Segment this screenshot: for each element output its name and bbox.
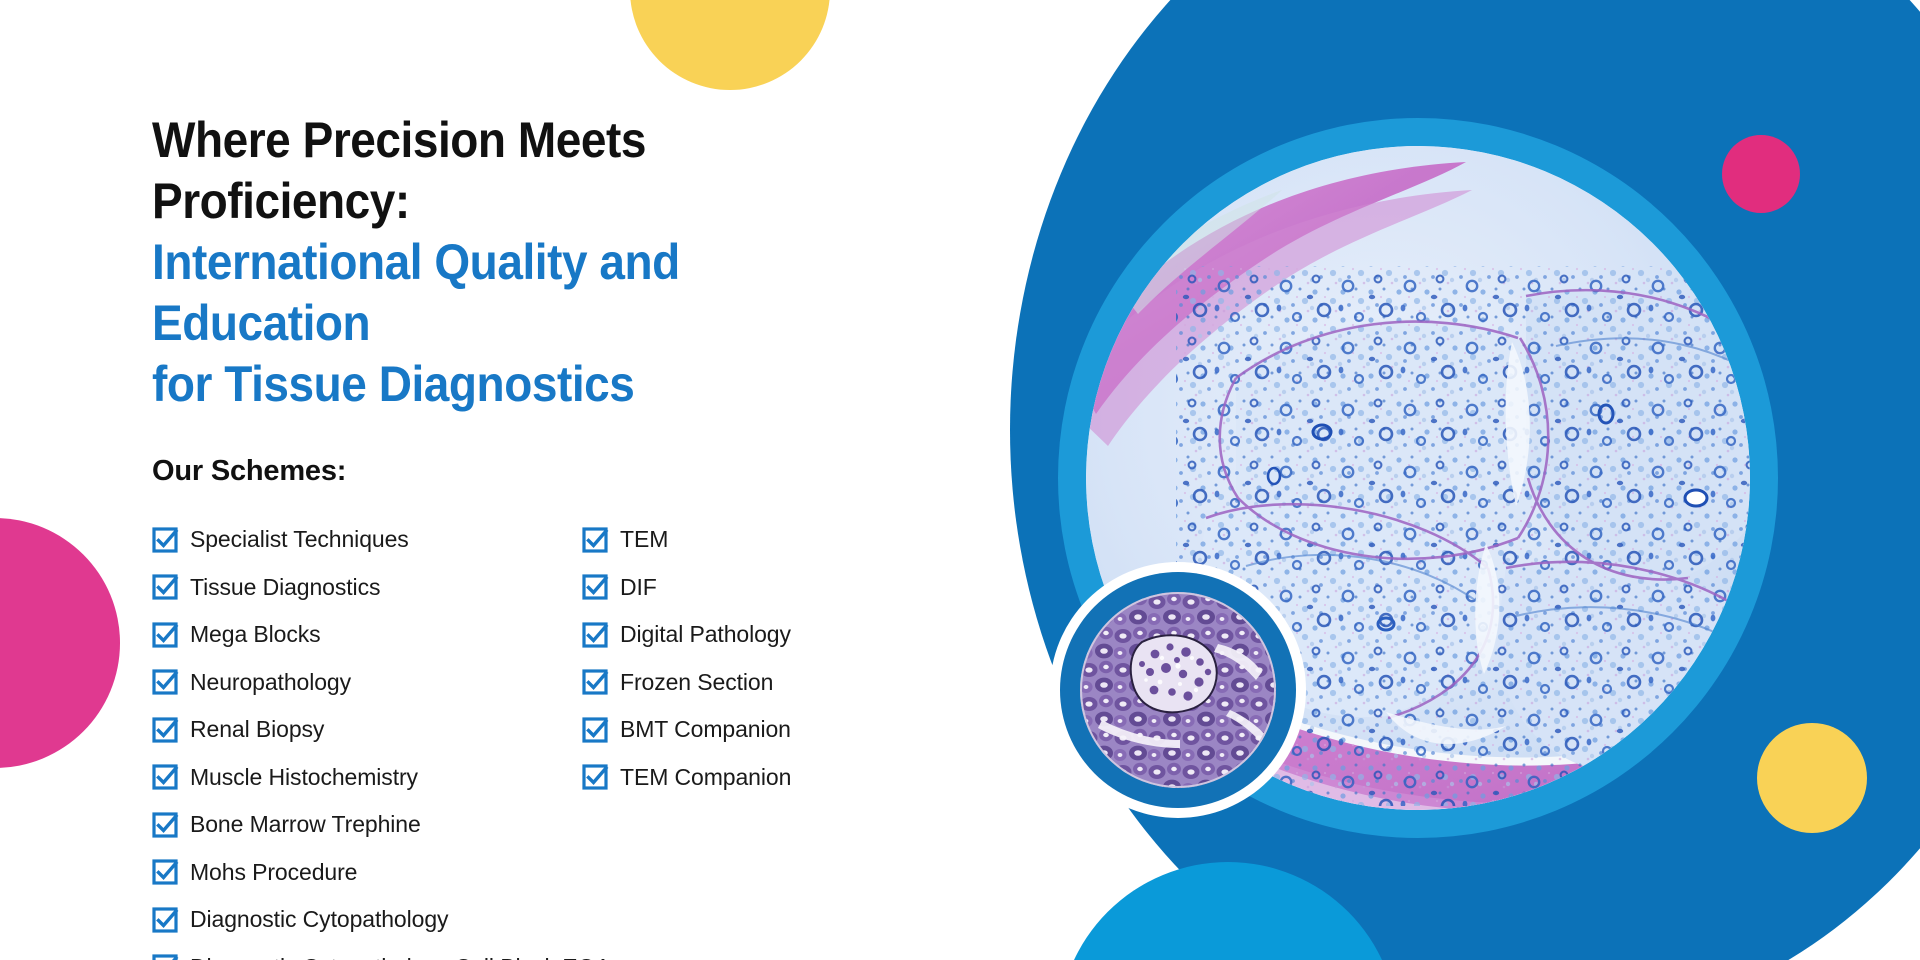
list-item[interactable]: DIF [582, 564, 962, 612]
list-item[interactable]: Neuropathology [152, 659, 582, 707]
list-item-label: Muscle Histochemistry [190, 764, 418, 791]
inset-micrograph-image [1080, 592, 1276, 788]
list-item-label: Bone Marrow Trephine [190, 811, 421, 838]
list-item[interactable]: Mega Blocks [152, 611, 582, 659]
list-item-label: Frozen Section [620, 669, 773, 696]
list-item[interactable]: Digital Pathology [582, 611, 962, 659]
schemes-lists: Specialist Techniques Tissue Diagnostics… [152, 488, 972, 960]
checked-checkbox-icon[interactable] [152, 527, 178, 553]
promotional-banner: Where Precision Meets Proficiency: Inter… [0, 0, 1920, 960]
checked-checkbox-icon[interactable] [582, 669, 608, 695]
checked-checkbox-icon[interactable] [152, 669, 178, 695]
list-item-label: Tissue Diagnostics [190, 574, 380, 601]
list-item-label: Specialist Techniques [190, 526, 409, 553]
circle-pink-left [0, 518, 120, 768]
headline-line-1: Where Precision Meets Proficiency: [152, 110, 906, 232]
list-item-label: DIF [620, 574, 657, 601]
checked-checkbox-icon[interactable] [582, 527, 608, 553]
list-item[interactable]: TEM [582, 516, 962, 564]
list-item[interactable]: Bone Marrow Trephine [152, 801, 582, 849]
headline-line-3: for Tissue Diagnostics [152, 354, 906, 415]
checked-checkbox-icon[interactable] [152, 764, 178, 790]
list-item-label: Diagnostic Cytopathology Cell Block EQA [190, 954, 611, 960]
list-item-label: Mohs Procedure [190, 859, 357, 886]
checked-checkbox-icon[interactable] [152, 574, 178, 600]
schemes-left-column: Specialist Techniques Tissue Diagnostics… [152, 516, 582, 960]
list-item[interactable]: Specialist Techniques [152, 516, 582, 564]
list-item[interactable]: Frozen Section [582, 659, 962, 707]
checked-checkbox-icon[interactable] [152, 812, 178, 838]
page-title: Where Precision Meets Proficiency: Inter… [152, 110, 906, 415]
list-item-label: Renal Biopsy [190, 716, 324, 743]
list-item[interactable]: TEM Companion [582, 754, 962, 802]
checked-checkbox-icon[interactable] [152, 954, 178, 960]
checked-checkbox-icon[interactable] [152, 622, 178, 648]
list-item[interactable]: Muscle Histochemistry [152, 754, 582, 802]
schemes-right-column: TEM DIF Digital Pathology [582, 516, 962, 960]
schemes-heading: Our Schemes: [152, 415, 972, 488]
list-item-label: Digital Pathology [620, 621, 791, 648]
headline-line-2: International Quality and Education [152, 232, 906, 354]
list-item-label: Neuropathology [190, 669, 351, 696]
circle-yellow-top [630, 0, 830, 90]
checked-checkbox-icon[interactable] [152, 907, 178, 933]
list-item[interactable]: Renal Biopsy [152, 706, 582, 754]
checked-checkbox-icon[interactable] [582, 622, 608, 648]
checked-checkbox-icon[interactable] [152, 859, 178, 885]
list-item-label: Mega Blocks [190, 621, 321, 648]
list-item[interactable]: Diagnostic Cytopathology [152, 896, 582, 944]
checked-checkbox-icon[interactable] [152, 717, 178, 743]
list-item-label: TEM Companion [620, 764, 791, 791]
list-item[interactable]: Tissue Diagnostics [152, 564, 582, 612]
list-item[interactable]: BMT Companion [582, 706, 962, 754]
list-item-label: BMT Companion [620, 716, 791, 743]
list-item[interactable]: Mohs Procedure [152, 849, 582, 897]
content-column: Where Precision Meets Proficiency: Inter… [152, 110, 972, 960]
inset-micrograph [1050, 562, 1306, 818]
checked-checkbox-icon[interactable] [582, 717, 608, 743]
checked-checkbox-icon[interactable] [582, 764, 608, 790]
list-item-label: Diagnostic Cytopathology [190, 906, 448, 933]
checked-checkbox-icon[interactable] [582, 574, 608, 600]
list-item-label: TEM [620, 526, 668, 553]
list-item[interactable]: Diagnostic Cytopathology Cell Block EQA [152, 944, 582, 960]
